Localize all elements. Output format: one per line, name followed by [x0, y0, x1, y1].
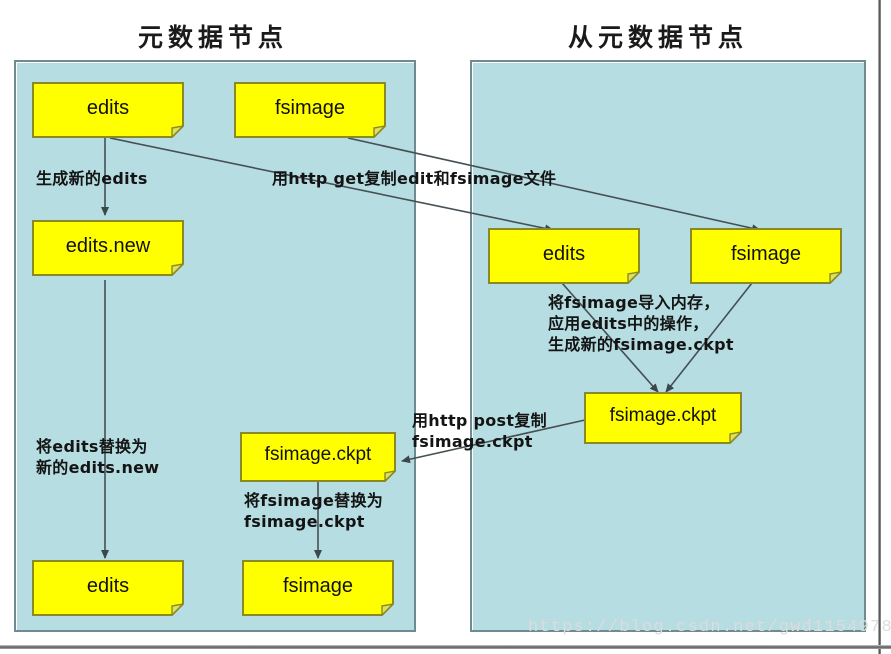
scan-edge-bottom	[0, 645, 891, 649]
node-fsimage-ckpt-right[interactable]: fsimage.ckpt	[584, 392, 742, 444]
note-merge-into-memory: 将fsimage导入内存， 应用edits中的操作， 生成新的fsimage.c…	[548, 292, 734, 355]
node-fsimage-top[interactable]: fsimage	[234, 82, 386, 138]
node-edits-top[interactable]: edits	[32, 82, 184, 138]
document-shape-icon	[690, 228, 842, 284]
node-fsimage-bottom[interactable]: fsimage	[242, 560, 394, 616]
note-http-post-copy: 用http post复制 fsimage.ckpt	[412, 410, 547, 452]
note-replace-edits: 将edits替换为 新的edits.new	[36, 436, 159, 478]
document-shape-icon	[32, 220, 184, 276]
diagram-canvas: 元数据节点 从元数据节点	[0, 0, 891, 654]
node-edits-new[interactable]: edits.new	[32, 220, 184, 276]
document-shape-icon	[32, 82, 184, 138]
scan-edge-right	[878, 0, 881, 654]
document-shape-icon	[32, 560, 184, 616]
document-shape-icon	[584, 392, 742, 444]
watermark-url: https://blog.csdn.net/gwd1154978352	[528, 618, 891, 637]
document-shape-icon	[240, 432, 396, 482]
note-replace-fsimage: 将fsimage替换为 fsimage.ckpt	[244, 490, 383, 532]
document-shape-icon	[488, 228, 640, 284]
left-panel-metadata-node	[14, 60, 416, 632]
left-panel-title: 元数据节点	[138, 18, 288, 54]
right-panel-title: 从元数据节点	[568, 18, 748, 54]
document-shape-icon	[234, 82, 386, 138]
node-edits-bottom[interactable]: edits	[32, 560, 184, 616]
note-http-get-copy: 用http get复制edit和fsimage文件	[272, 168, 556, 189]
node-edits-copy[interactable]: edits	[488, 228, 640, 284]
document-shape-icon	[242, 560, 394, 616]
node-fsimage-copy[interactable]: fsimage	[690, 228, 842, 284]
note-generate-new-edits: 生成新的edits	[36, 168, 148, 189]
node-fsimage-ckpt-left[interactable]: fsimage.ckpt	[240, 432, 396, 482]
